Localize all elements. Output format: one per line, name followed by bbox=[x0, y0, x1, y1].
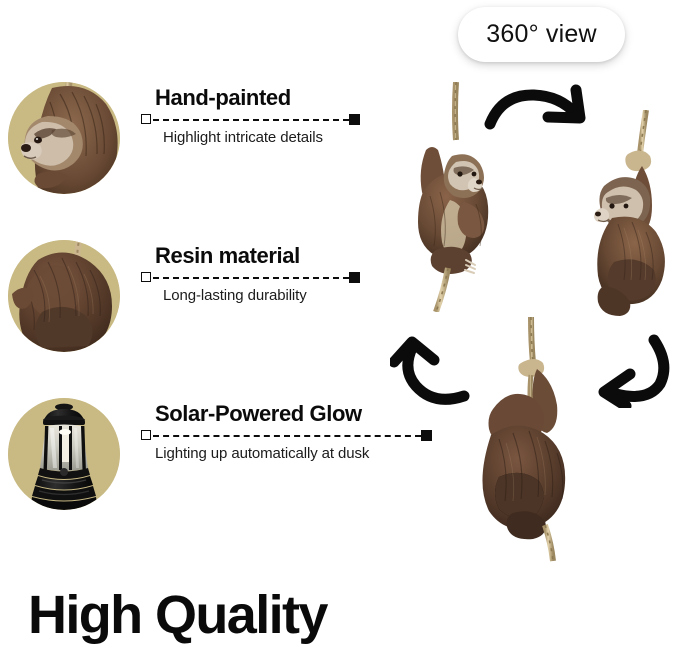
sloth-view-back bbox=[473, 317, 603, 562]
sloth-back-illustration bbox=[8, 240, 120, 352]
product-infographic: 360° view bbox=[0, 0, 679, 666]
badge-360-view[interactable]: 360° view bbox=[458, 7, 625, 62]
marker-open-square bbox=[141, 430, 151, 440]
thumbnail-sloth-head-closeup bbox=[8, 82, 120, 194]
rotate-arrow-top-icon bbox=[484, 84, 594, 136]
badge-360-view-label: 360° view bbox=[486, 20, 596, 49]
sloth-head-illustration bbox=[8, 82, 120, 194]
solar-lantern-illustration bbox=[8, 398, 120, 510]
dashed-connector bbox=[153, 119, 349, 121]
thumbnail-solar-lantern-closeup bbox=[8, 398, 120, 510]
rotate-arrow-bottom-left-lower-icon bbox=[590, 334, 672, 408]
product-360-panel bbox=[378, 62, 679, 562]
marker-open-square bbox=[141, 272, 151, 282]
dashed-connector bbox=[153, 277, 349, 279]
thumbnail-sloth-back-closeup bbox=[8, 240, 120, 352]
rotate-arrow-bottom-left-icon bbox=[390, 334, 472, 408]
marker-open-square bbox=[141, 114, 151, 124]
page-headline: High Quality bbox=[28, 588, 327, 642]
marker-filled-square bbox=[349, 272, 360, 283]
sloth-view-side-right bbox=[568, 110, 679, 330]
marker-filled-square bbox=[349, 114, 360, 125]
